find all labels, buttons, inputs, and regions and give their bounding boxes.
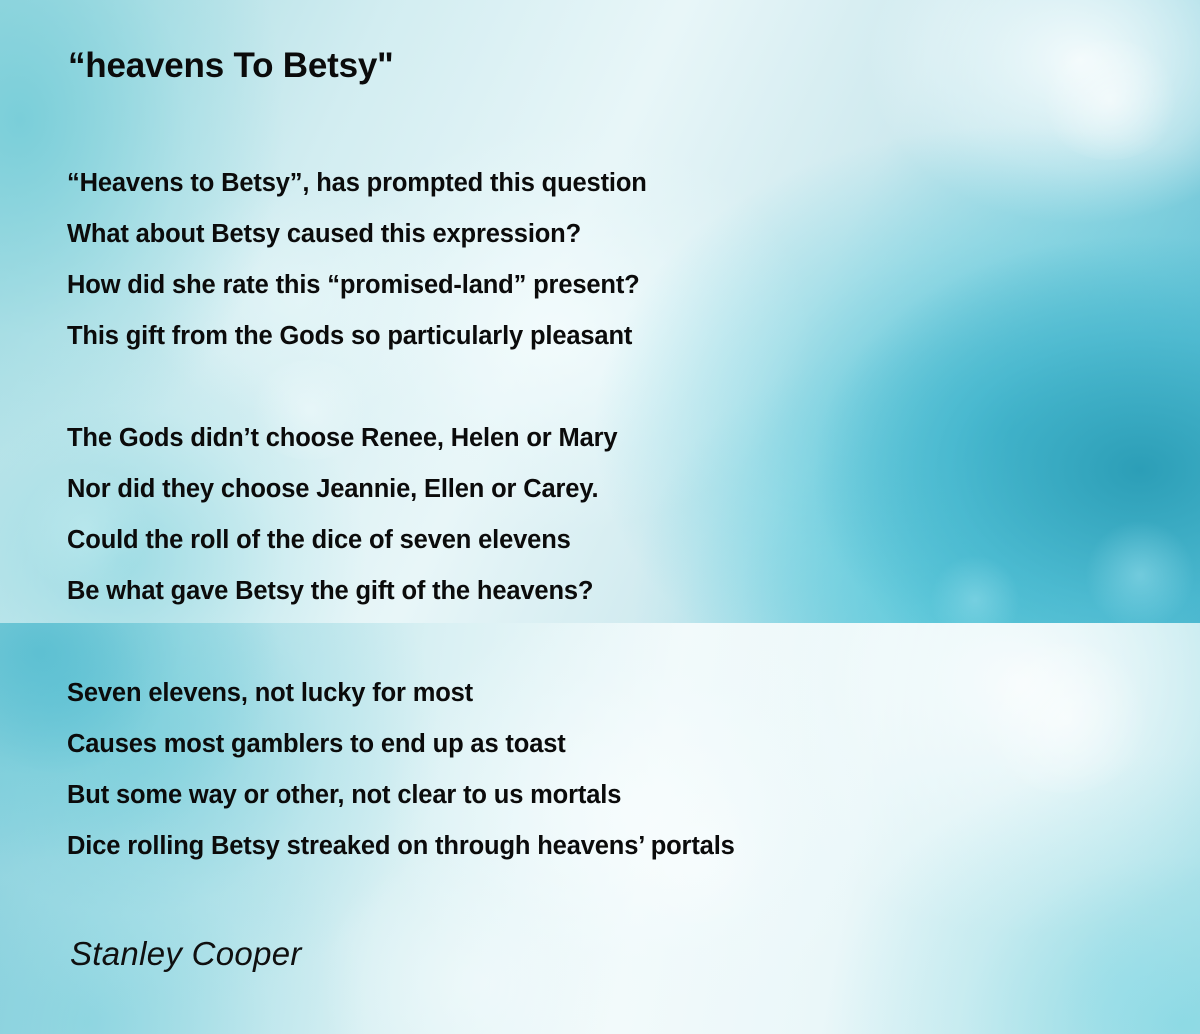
poem-line: Causes most gamblers to end up as toast — [67, 719, 735, 770]
poem-title: “heavens To Betsy" — [68, 46, 394, 86]
poem-line: What about Betsy caused this expression? — [67, 209, 647, 260]
poem-line: How did she rate this “promised-land” pr… — [67, 260, 647, 311]
poem-line: The Gods didn’t choose Renee, Helen or M… — [67, 413, 617, 464]
poem-author: Stanley Cooper — [70, 935, 302, 973]
poem-line: Nor did they choose Jeannie, Ellen or Ca… — [67, 464, 617, 515]
poem-stanza: “Heavens to Betsy”, has prompted this qu… — [67, 158, 647, 362]
poem-line: This gift from the Gods so particularly … — [67, 311, 647, 362]
poem-stanza: The Gods didn’t choose Renee, Helen or M… — [67, 413, 617, 617]
poem-line: Dice rolling Betsy streaked on through h… — [67, 821, 735, 872]
poem-line: Could the roll of the dice of seven elev… — [67, 515, 617, 566]
poem-line: “Heavens to Betsy”, has prompted this qu… — [67, 158, 647, 209]
poem-stanza: Seven elevens, not lucky for most Causes… — [67, 668, 735, 872]
poem-image-card: “heavens To Betsy" “Heavens to Betsy”, h… — [0, 0, 1200, 1034]
poem-line: Seven elevens, not lucky for most — [67, 668, 735, 719]
poem-content: “heavens To Betsy" “Heavens to Betsy”, h… — [0, 0, 1200, 1034]
poem-line: But some way or other, not clear to us m… — [67, 770, 735, 821]
poem-line: Be what gave Betsy the gift of the heave… — [67, 566, 617, 617]
